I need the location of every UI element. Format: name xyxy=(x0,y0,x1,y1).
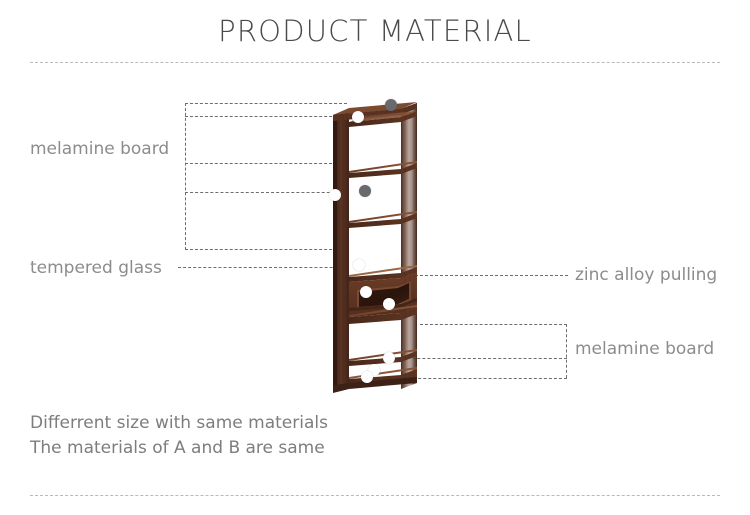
divider-bottom xyxy=(30,495,720,496)
callout-label-melamine-right: melamine board xyxy=(575,339,714,359)
marker-dot-drawer-handle xyxy=(383,298,395,310)
leader-line-melamine-top xyxy=(185,103,347,104)
callout-label-zinc-alloy: zinc alloy pulling xyxy=(575,265,717,285)
leader-line-right-bracket xyxy=(566,324,567,378)
marker-dot-base-lower xyxy=(361,371,373,383)
leader-line-melamine-right-top xyxy=(420,324,567,325)
note-line-2: The materials of A and B are same xyxy=(30,438,325,458)
product-material-page: PRODUCT MATERIAL xyxy=(0,0,750,515)
marker-dot-top-grey xyxy=(385,99,397,111)
bookshelf-svg xyxy=(325,95,425,395)
leader-line-left-bracket xyxy=(185,103,186,250)
marker-dot-lower-shelf xyxy=(383,352,395,364)
leader-line-melamine-bottom xyxy=(185,249,347,250)
leader-line-melamine-mid xyxy=(185,163,337,164)
note-line-1: Differrent size with same materials xyxy=(30,413,328,433)
marker-dot-side-white xyxy=(329,189,341,201)
marker-dot-drawer-glass xyxy=(360,286,372,298)
callout-label-melamine-left: melamine board xyxy=(30,139,169,159)
product-illustration xyxy=(325,95,425,395)
page-title: PRODUCT MATERIAL xyxy=(0,14,750,48)
leader-line-zinc-alloy xyxy=(400,275,568,276)
callout-label-tempered-glass: tempered glass xyxy=(30,258,162,278)
marker-dot-shelf-grey xyxy=(359,185,371,197)
leader-line-melamine-top-inner xyxy=(185,116,347,117)
divider-top xyxy=(30,62,720,63)
marker-dot-top-white xyxy=(352,111,364,123)
marker-dot-drawer-top xyxy=(353,259,365,271)
